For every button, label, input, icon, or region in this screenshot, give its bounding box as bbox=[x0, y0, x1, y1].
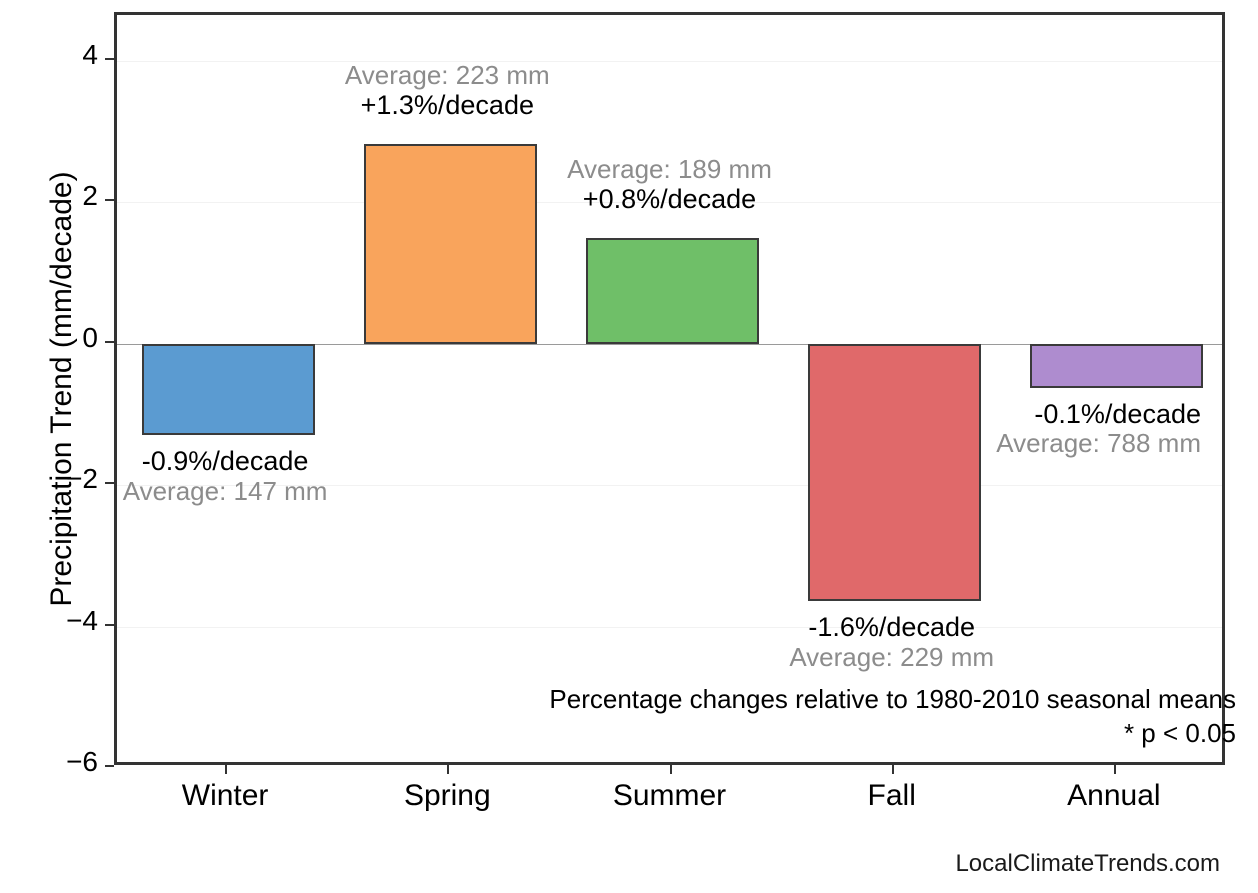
x-tick-mark bbox=[225, 765, 227, 774]
y-tick-label: 0 bbox=[0, 324, 98, 352]
y-tick-label: −6 bbox=[0, 748, 98, 776]
y-tick-mark bbox=[105, 58, 114, 60]
x-tick-label-fall: Fall bbox=[772, 779, 1012, 813]
y-axis-title: Precipitation Trend (mm/decade) bbox=[45, 9, 79, 769]
x-tick-label-annual: Annual bbox=[994, 779, 1234, 813]
footnote-line-1: Percentage changes relative to 1980-2010… bbox=[549, 683, 1236, 717]
bar-annual[interactable] bbox=[1030, 344, 1203, 388]
x-tick-label-spring: Spring bbox=[327, 779, 567, 813]
bar-annotation-fall: -1.6%/decadeAverage: 229 mm bbox=[682, 612, 1102, 672]
y-tick-mark bbox=[105, 341, 114, 343]
x-tick-label-summer: Summer bbox=[550, 779, 790, 813]
y-tick-label: −4 bbox=[0, 607, 98, 635]
bar-fall[interactable] bbox=[808, 344, 981, 601]
bar-percent-label: -1.6%/decade bbox=[682, 612, 1102, 643]
footnote: Percentage changes relative to 1980-2010… bbox=[549, 683, 1236, 751]
watermark: LocalClimateTrends.com bbox=[955, 850, 1220, 878]
bar-winter[interactable] bbox=[142, 344, 315, 435]
bar-summer[interactable] bbox=[586, 238, 759, 344]
x-tick-mark bbox=[892, 765, 894, 774]
bar-average-label: Average: 788 mm bbox=[781, 429, 1201, 459]
y-tick-mark bbox=[105, 624, 114, 626]
bar-percent-label: -0.1%/decade bbox=[781, 399, 1201, 430]
bar-average-label: Average: 189 mm bbox=[460, 155, 880, 185]
bar-percent-label: +0.8%/decade bbox=[460, 184, 880, 215]
bar-average-label: Average: 147 mm bbox=[15, 477, 435, 507]
bar-percent-label: -0.9%/decade bbox=[15, 446, 435, 477]
bar-annotation-spring: Average: 223 mm+1.3%/decade bbox=[237, 61, 657, 121]
figure: Precipitation Trend (mm/decade) 420−2−4−… bbox=[0, 0, 1258, 893]
bar-annotation-summer: Average: 189 mm+0.8%/decade bbox=[460, 155, 880, 215]
footnote-line-2: * p < 0.05 bbox=[549, 717, 1236, 751]
y-tick-label: 4 bbox=[0, 41, 98, 69]
y-tick-mark bbox=[105, 765, 114, 767]
bar-percent-label: +1.3%/decade bbox=[237, 90, 657, 121]
x-tick-label-winter: Winter bbox=[105, 779, 345, 813]
bar-average-label: Average: 229 mm bbox=[682, 643, 1102, 673]
y-tick-mark bbox=[105, 199, 114, 201]
x-tick-mark bbox=[670, 765, 672, 774]
y-tick-label: 2 bbox=[0, 182, 98, 210]
bar-annotation-winter: -0.9%/decadeAverage: 147 mm bbox=[15, 446, 435, 506]
bar-average-label: Average: 223 mm bbox=[237, 61, 657, 91]
x-tick-mark bbox=[1114, 765, 1116, 774]
x-tick-mark bbox=[447, 765, 449, 774]
bar-annotation-annual: -0.1%/decadeAverage: 788 mm bbox=[781, 399, 1201, 459]
